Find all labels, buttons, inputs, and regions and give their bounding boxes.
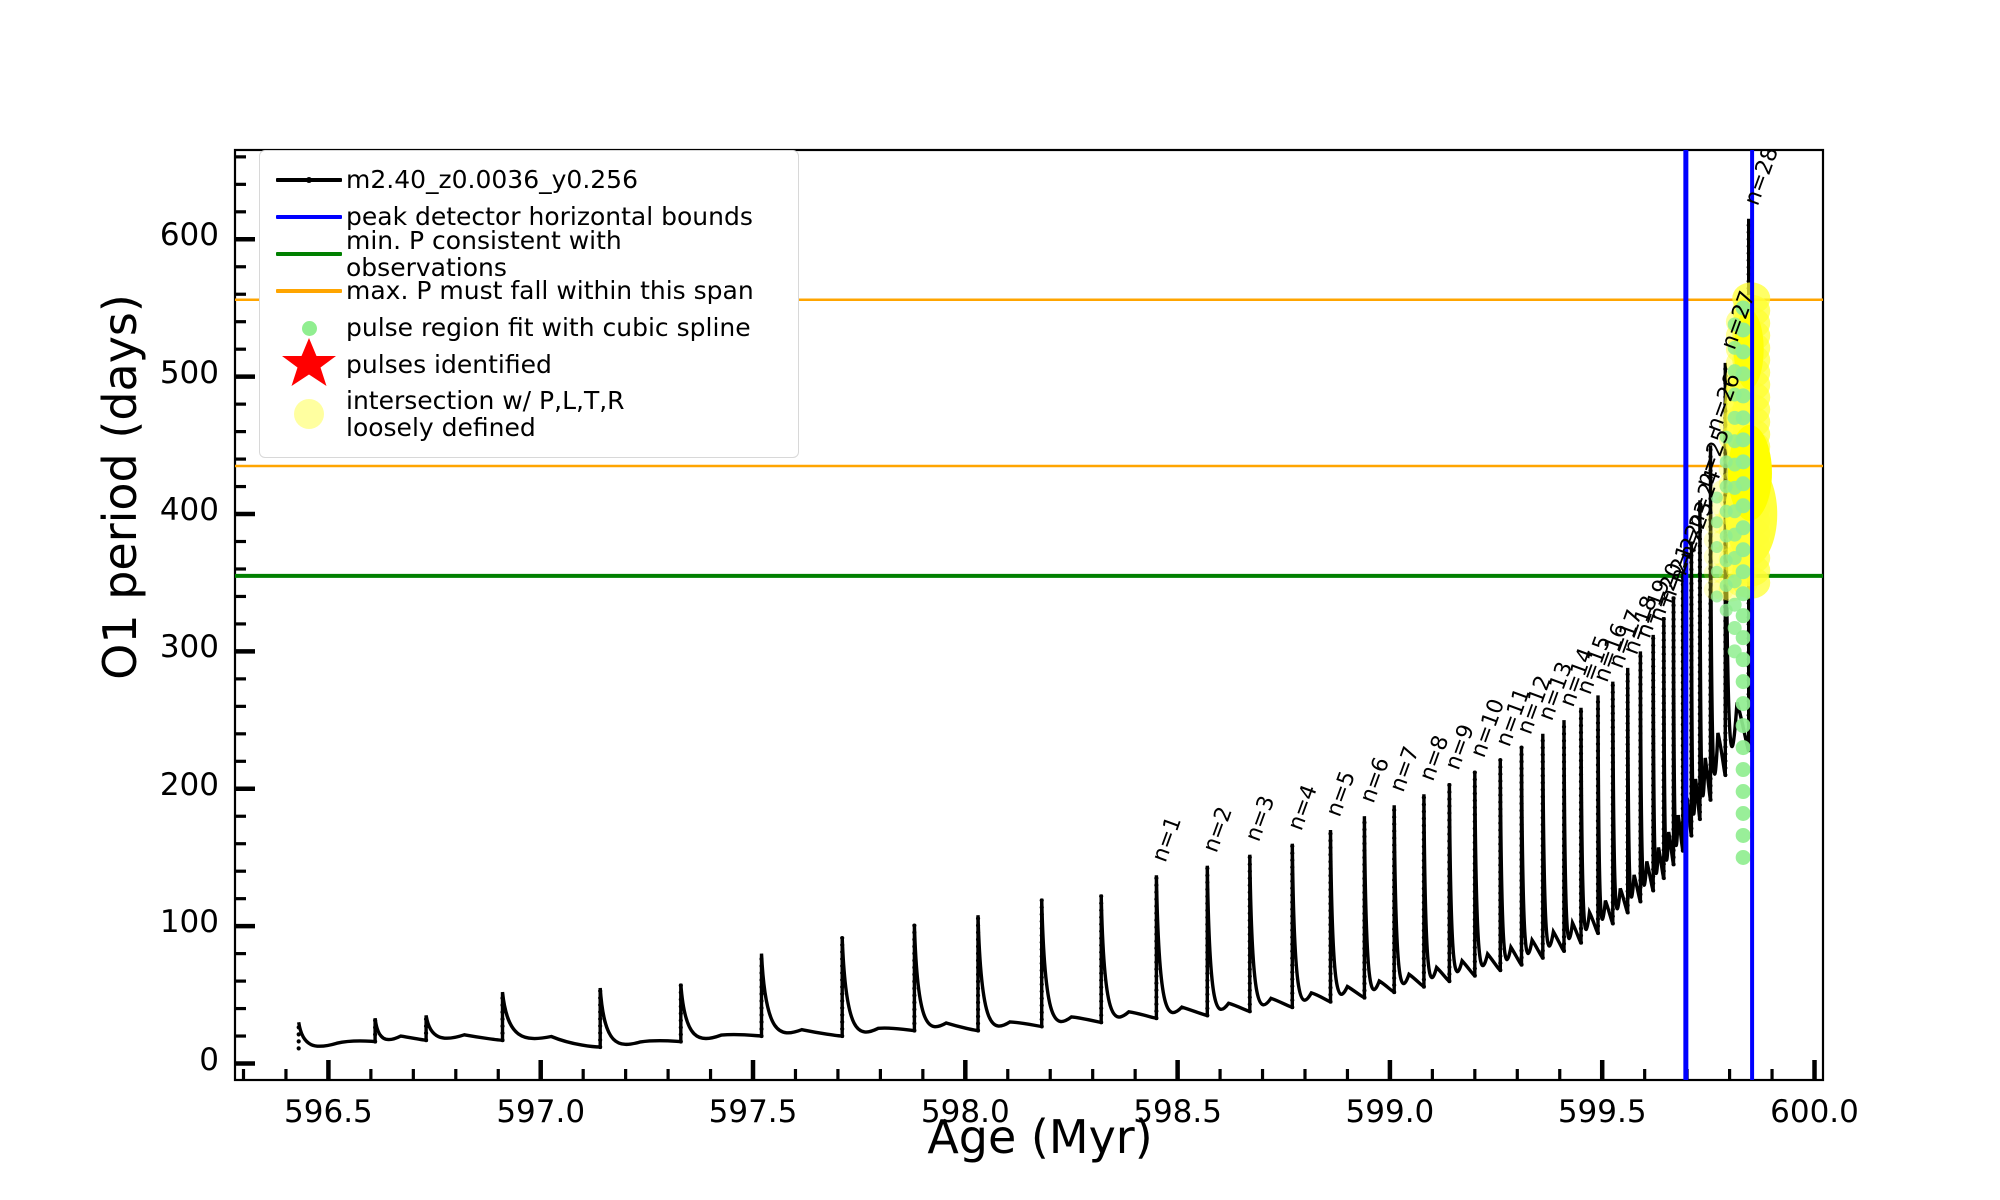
- model-point: [1638, 829, 1642, 833]
- model-point: [1611, 795, 1615, 799]
- model-point: [840, 964, 844, 968]
- model-point: [1698, 740, 1702, 744]
- model-point: [1447, 937, 1451, 941]
- model-point: [1473, 812, 1477, 816]
- legend-yellow-dot: [294, 399, 324, 429]
- model-point: [1723, 626, 1727, 630]
- model-point: [1626, 840, 1630, 844]
- model-point: [1422, 879, 1426, 883]
- model-point: [840, 943, 844, 947]
- model-point: [1328, 909, 1332, 913]
- model-point: [1671, 722, 1675, 726]
- model-point: [1562, 907, 1566, 911]
- model-point: [1099, 929, 1103, 933]
- model-point: [840, 1034, 844, 1038]
- model-point: [1662, 631, 1666, 635]
- model-point: [840, 978, 844, 982]
- spline-fit-point: [1720, 604, 1733, 617]
- model-point: [1290, 893, 1294, 897]
- model-point: [1698, 579, 1702, 583]
- model-point: [1248, 883, 1252, 887]
- model-point: [1579, 843, 1583, 847]
- model-point: [1498, 842, 1502, 846]
- model-point: [1698, 768, 1702, 772]
- x-tick-label: 599.0: [1300, 1094, 1480, 1130]
- model-point: [1708, 616, 1712, 620]
- model-point: [1392, 836, 1396, 840]
- model-point: [1473, 952, 1477, 956]
- model-point: [1040, 968, 1044, 972]
- model-point: [1290, 998, 1294, 1002]
- model-point: [1698, 761, 1702, 765]
- model-point: [1541, 760, 1545, 764]
- model-point: [976, 993, 980, 997]
- model-point: [1154, 981, 1158, 985]
- model-point: [1698, 754, 1702, 758]
- model-point: [1671, 771, 1675, 775]
- legend-item-1: m2.40_z0.0036_y0.256: [272, 161, 784, 198]
- model-point: [598, 1045, 602, 1049]
- model-point: [1611, 886, 1615, 890]
- model-point: [1541, 746, 1545, 750]
- model-point: [976, 1028, 980, 1032]
- model-point: [1596, 931, 1600, 935]
- model-point: [1541, 893, 1545, 897]
- model-point: [1099, 1020, 1103, 1024]
- model-point: [1562, 893, 1566, 897]
- spline-fit-point: [1720, 505, 1733, 518]
- model-point: [1099, 985, 1103, 989]
- model-point: [1205, 936, 1209, 940]
- model-point: [1040, 989, 1044, 993]
- model-point: [1698, 691, 1702, 695]
- model-point: [1638, 738, 1642, 742]
- model-point: [1392, 864, 1396, 868]
- model-point: [1638, 885, 1642, 889]
- model-point: [1473, 924, 1477, 928]
- model-point: [1447, 846, 1451, 850]
- model-point: [1099, 978, 1103, 982]
- model-point: [1392, 850, 1396, 854]
- model-point: [1248, 953, 1252, 957]
- model-point: [1611, 711, 1615, 715]
- model-point: [1651, 839, 1655, 843]
- y-tick-label: 300: [160, 629, 219, 665]
- model-point: [976, 1000, 980, 1004]
- model-point: [912, 930, 916, 934]
- spline-fit-point: [1736, 740, 1751, 755]
- legend-item-7: intersection w/ P,L,T,R loosely defined: [272, 383, 784, 445]
- model-point: [1519, 921, 1523, 925]
- model-point: [1611, 907, 1615, 911]
- model-point: [976, 923, 980, 927]
- model-point: [1040, 912, 1044, 916]
- model-point: [1626, 742, 1630, 746]
- model-point: [1473, 938, 1477, 942]
- model-point: [1099, 964, 1103, 968]
- model-point: [1248, 862, 1252, 866]
- model-point: [1498, 856, 1502, 860]
- model-point: [1626, 833, 1630, 837]
- model-point: [1447, 965, 1451, 969]
- model-point: [1447, 923, 1451, 927]
- model-point: [1671, 757, 1675, 761]
- model-point: [1651, 650, 1655, 654]
- model-point: [1662, 771, 1666, 775]
- model-point: [1579, 787, 1583, 791]
- model-point: [1205, 915, 1209, 919]
- model-point: [1579, 808, 1583, 812]
- model-point: [1422, 984, 1426, 988]
- model-point: [1422, 900, 1426, 904]
- model-point: [1362, 904, 1366, 908]
- model-point: [1392, 892, 1396, 896]
- model-point: [500, 1017, 504, 1021]
- model-point: [1519, 949, 1523, 953]
- model-point: [1562, 879, 1566, 883]
- model-point: [1519, 830, 1523, 834]
- model-point: [1541, 809, 1545, 813]
- model-point: [1519, 760, 1523, 764]
- model-point: [1662, 694, 1666, 698]
- model-point: [1708, 665, 1712, 669]
- model-point: [1473, 819, 1477, 823]
- model-point: [1519, 788, 1523, 792]
- model-point: [1422, 851, 1426, 855]
- model-point: [1611, 781, 1615, 785]
- model-point: [1596, 889, 1600, 893]
- model-point: [912, 937, 916, 941]
- model-point: [1473, 777, 1477, 781]
- model-point: [1611, 690, 1615, 694]
- model-point: [598, 1010, 602, 1014]
- model-point: [1447, 874, 1451, 878]
- model-point: [1626, 700, 1630, 704]
- model-point: [840, 1027, 844, 1031]
- model-point: [1422, 823, 1426, 827]
- model-point: [1392, 878, 1396, 882]
- legend-star-icon: [280, 336, 338, 394]
- y-tick-label: 200: [160, 767, 219, 803]
- model-point: [1689, 595, 1693, 599]
- model-point: [1698, 628, 1702, 632]
- model-point: [1579, 731, 1583, 735]
- model-point: [1651, 692, 1655, 696]
- model-point: [297, 1046, 301, 1050]
- model-point: [1422, 830, 1426, 834]
- model-point: [1205, 901, 1209, 905]
- model-point: [1290, 991, 1294, 995]
- model-point: [976, 951, 980, 955]
- model-point: [1205, 866, 1209, 870]
- model-point: [1638, 710, 1642, 714]
- model-point: [1205, 985, 1209, 989]
- model-point: [1519, 928, 1523, 932]
- model-point: [1671, 715, 1675, 719]
- model-point: [1447, 797, 1451, 801]
- model-point: [1723, 661, 1727, 665]
- y-tick-label: 0: [199, 1042, 219, 1078]
- model-point: [1519, 942, 1523, 946]
- model-point: [1562, 781, 1566, 785]
- model-point: [1662, 687, 1666, 691]
- model-point: [1447, 839, 1451, 843]
- model-point: [1723, 675, 1727, 679]
- model-point: [1662, 855, 1666, 859]
- model-point: [1473, 896, 1477, 900]
- model-point: [1328, 972, 1332, 976]
- model-point: [1328, 965, 1332, 969]
- model-point: [1579, 857, 1583, 861]
- model-point: [1671, 813, 1675, 817]
- model-point: [1447, 818, 1451, 822]
- legend-item-label: m2.40_z0.0036_y0.256: [346, 166, 638, 193]
- model-point: [1596, 798, 1600, 802]
- model-point: [840, 950, 844, 954]
- model-point: [598, 1024, 602, 1028]
- legend-green-dot: [302, 321, 317, 336]
- model-point: [1205, 950, 1209, 954]
- model-point: [1519, 823, 1523, 827]
- model-point: [500, 1031, 504, 1035]
- model-point: [1611, 725, 1615, 729]
- x-tick-label: 597.0: [451, 1094, 631, 1130]
- model-point: [1638, 661, 1642, 665]
- model-point: [1422, 949, 1426, 953]
- model-point: [1392, 920, 1396, 924]
- model-point: [1498, 968, 1502, 972]
- model-point: [1362, 974, 1366, 978]
- model-point: [1626, 777, 1630, 781]
- model-point: [1689, 721, 1693, 725]
- model-point: [1328, 986, 1332, 990]
- model-point: [1328, 832, 1332, 836]
- model-point: [976, 1007, 980, 1011]
- spline-fit-point: [1728, 621, 1742, 635]
- model-point: [1473, 966, 1477, 970]
- model-point: [1248, 869, 1252, 873]
- model-point: [1626, 854, 1630, 858]
- model-point: [373, 1032, 377, 1036]
- model-point: [1708, 798, 1712, 802]
- model-point: [759, 971, 763, 975]
- model-point: [1099, 1013, 1103, 1017]
- model-point: [1473, 861, 1477, 865]
- model-point: [1328, 916, 1332, 920]
- model-point: [1651, 776, 1655, 780]
- model-point: [1723, 731, 1727, 735]
- model-point: [1248, 946, 1252, 950]
- model-point: [1498, 919, 1502, 923]
- model-point: [1099, 999, 1103, 1003]
- model-point: [1596, 924, 1600, 928]
- model-point: [1579, 913, 1583, 917]
- model-point: [1611, 697, 1615, 701]
- spline-fit-point: [1728, 644, 1742, 658]
- model-point: [1154, 967, 1158, 971]
- model-point: [598, 996, 602, 1000]
- model-point: [1671, 806, 1675, 810]
- model-point: [1362, 897, 1366, 901]
- model-point: [1708, 791, 1712, 795]
- model-point: [1651, 825, 1655, 829]
- model-point: [1205, 1013, 1209, 1017]
- model-point: [598, 1038, 602, 1042]
- model-point: [1651, 678, 1655, 682]
- model-point: [1205, 922, 1209, 926]
- model-point: [1392, 948, 1396, 952]
- model-point: [1689, 798, 1693, 802]
- figure-canvas: n=1n=2n=3n=4n=5n=6n=7n=8n=9n=10n=11n=12n…: [0, 0, 2000, 1200]
- model-point: [1651, 888, 1655, 892]
- model-point: [1662, 785, 1666, 789]
- model-point: [1662, 806, 1666, 810]
- model-point: [1328, 846, 1332, 850]
- model-point: [1611, 704, 1615, 708]
- model-point: [1422, 907, 1426, 911]
- model-point: [1723, 717, 1727, 721]
- model-point: [1447, 783, 1451, 787]
- model-point: [1519, 963, 1523, 967]
- model-point: [1562, 788, 1566, 792]
- model-point: [1498, 779, 1502, 783]
- model-point: [1362, 876, 1366, 880]
- model-point: [840, 957, 844, 961]
- model-point: [1498, 793, 1502, 797]
- model-point: [1611, 893, 1615, 897]
- model-point: [1392, 815, 1396, 819]
- model-point: [912, 1021, 916, 1025]
- model-point: [1519, 935, 1523, 939]
- model-point: [1473, 805, 1477, 809]
- model-point: [1392, 941, 1396, 945]
- model-point: [1422, 921, 1426, 925]
- model-point: [1099, 950, 1103, 954]
- model-point: [1638, 808, 1642, 812]
- model-point: [1498, 835, 1502, 839]
- model-point: [679, 1018, 683, 1022]
- model-point: [1205, 1006, 1209, 1010]
- model-point: [1498, 961, 1502, 965]
- model-point: [1698, 670, 1702, 674]
- model-point: [1498, 933, 1502, 937]
- model-point: [912, 1014, 916, 1018]
- model-point: [1205, 957, 1209, 961]
- model-point: [1562, 767, 1566, 771]
- model-point: [1498, 758, 1502, 762]
- model-point: [840, 992, 844, 996]
- model-point: [1611, 851, 1615, 855]
- model-point: [1362, 848, 1366, 852]
- legend-key-line-marker-icon: [272, 166, 346, 194]
- model-point: [1651, 657, 1655, 661]
- model-point: [1519, 851, 1523, 855]
- x-tick-label: 598.5: [1088, 1094, 1268, 1130]
- model-point: [1562, 739, 1566, 743]
- model-point: [1611, 760, 1615, 764]
- y-tick-label: 600: [160, 217, 219, 253]
- model-point: [1498, 891, 1502, 895]
- model-point: [1626, 714, 1630, 718]
- model-point: [1422, 942, 1426, 946]
- model-point: [1328, 888, 1332, 892]
- legend: m2.40_z0.0036_y0.256peak detector horizo…: [259, 150, 799, 458]
- model-point: [1638, 724, 1642, 728]
- model-point: [1392, 906, 1396, 910]
- model-point: [1596, 714, 1600, 718]
- model-point: [1579, 829, 1583, 833]
- model-point: [1596, 763, 1600, 767]
- model-point: [424, 1024, 428, 1028]
- model-point: [1205, 978, 1209, 982]
- model-point: [1708, 658, 1712, 662]
- model-point: [1579, 906, 1583, 910]
- model-point: [1519, 753, 1523, 757]
- model-point: [1638, 682, 1642, 686]
- model-point: [1447, 804, 1451, 808]
- model-point: [1626, 826, 1630, 830]
- model-point: [1689, 700, 1693, 704]
- model-point: [1290, 907, 1294, 911]
- y-tick-label: 500: [160, 355, 219, 391]
- model-point: [1362, 939, 1366, 943]
- legend-key-line-icon: [272, 240, 346, 268]
- model-point: [679, 997, 683, 1001]
- model-point: [1626, 693, 1630, 697]
- model-point: [373, 1039, 377, 1043]
- model-point: [1498, 912, 1502, 916]
- model-point: [1248, 876, 1252, 880]
- model-point: [1638, 780, 1642, 784]
- model-point: [1708, 784, 1712, 788]
- model-point: [1099, 894, 1103, 898]
- model-point: [1205, 943, 1209, 947]
- model-point: [1473, 889, 1477, 893]
- model-point: [1671, 680, 1675, 684]
- model-point: [1099, 922, 1103, 926]
- model-point: [1611, 802, 1615, 806]
- model-point: [1638, 696, 1642, 700]
- model-point: [1290, 935, 1294, 939]
- model-point: [1708, 707, 1712, 711]
- model-point: [1099, 915, 1103, 919]
- model-point: [1689, 679, 1693, 683]
- model-point: [1651, 797, 1655, 801]
- model-point: [1708, 749, 1712, 753]
- model-point: [1290, 956, 1294, 960]
- model-point: [1154, 974, 1158, 978]
- spline-fit-point: [1736, 762, 1751, 777]
- model-point: [1205, 964, 1209, 968]
- model-point: [1708, 686, 1712, 690]
- model-point: [1541, 879, 1545, 883]
- legend-key-line-icon: [272, 277, 346, 305]
- model-point: [1651, 727, 1655, 731]
- y-tick-label: 100: [160, 904, 219, 940]
- model-point: [500, 1038, 504, 1042]
- model-point: [1362, 953, 1366, 957]
- model-point: [1689, 770, 1693, 774]
- model-point: [1541, 753, 1545, 757]
- model-point: [1248, 911, 1252, 915]
- model-point: [1328, 895, 1332, 899]
- model-point: [1519, 858, 1523, 862]
- model-point: [1638, 899, 1642, 903]
- model-point: [1626, 784, 1630, 788]
- model-point: [1447, 958, 1451, 962]
- model-point: [1638, 850, 1642, 854]
- model-point: [1290, 921, 1294, 925]
